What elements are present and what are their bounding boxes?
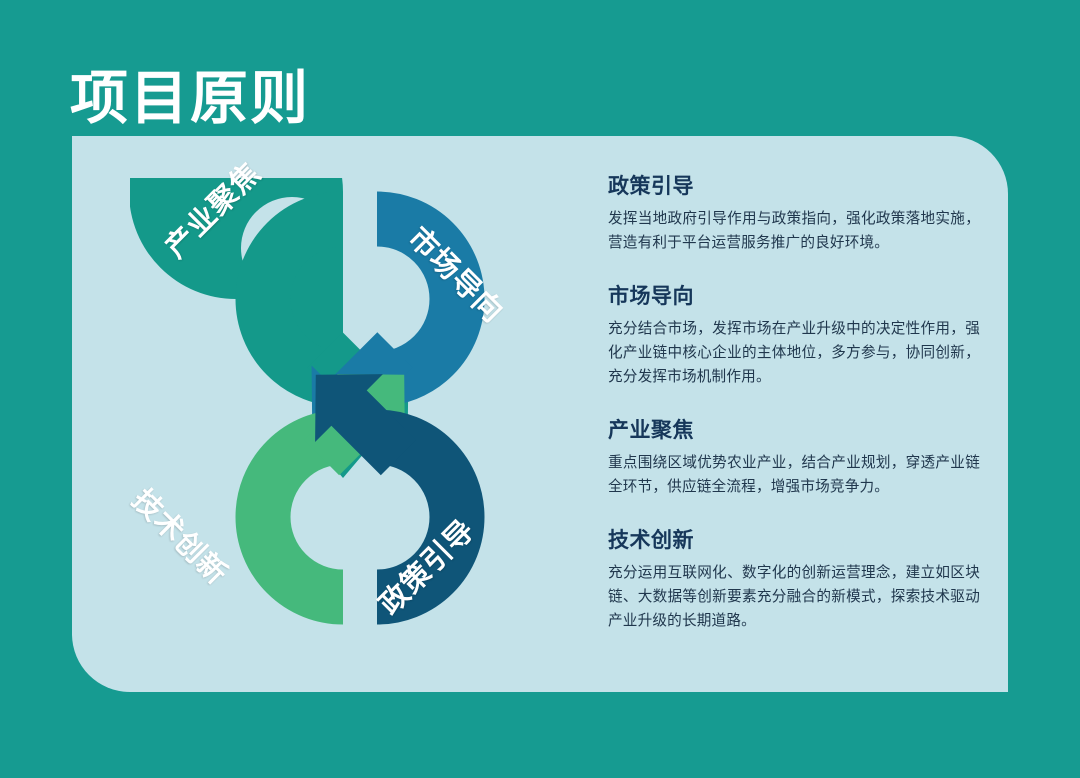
principle-detail-column: 政策引导 发挥当地政府引导作用与政策指向，强化政策落地实施，营造有利于平台运营服… [608,170,980,633]
detail-heading: 政策引导 [608,170,980,200]
detail-block-policy-guidance: 政策引导 发挥当地政府引导作用与政策指向，强化政策落地实施，营造有利于平台运营服… [608,170,980,255]
detail-block-industry-focus: 产业聚焦 重点围绕区域优势农业产业，结合产业规划，穿透产业链全环节，供应链全流程… [608,414,980,499]
detail-body: 重点围绕区域优势农业产业，结合产业规划，穿透产业链全环节，供应链全流程，增强市场… [608,452,980,499]
detail-block-market-orientation: 市场导向 充分结合市场，发挥市场在产业升级中的决定性作用，强化产业链中核心企业的… [608,280,980,389]
detail-body: 发挥当地政府引导作用与政策指向，强化政策落地实施，营造有利于平台运营服务推广的良… [608,208,980,255]
detail-block-technology-innovation: 技术创新 充分运用互联网化、数字化的创新运营理念，建立如区块链、大数据等创新要素… [608,524,980,633]
detail-body: 充分结合市场，发挥市场在产业升级中的决定性作用，强化产业链中核心企业的主体地位，… [608,318,980,389]
cycle-diagram-svg [130,178,590,638]
content-card: 产业聚焦 市场导向 技术创新 政策引导 政策引导 发挥当地政府引导作用与政策指向… [72,136,1008,692]
page-title: 项目原则 [70,67,310,131]
detail-heading: 产业聚焦 [608,414,980,444]
detail-body: 充分运用互联网化、数字化的创新运营理念，建立如区块链、大数据等创新要素充分融合的… [608,562,980,633]
detail-heading: 技术创新 [608,524,980,554]
principle-cycle-diagram: 产业聚焦 市场导向 技术创新 政策引导 [130,178,590,638]
detail-heading: 市场导向 [608,280,980,310]
